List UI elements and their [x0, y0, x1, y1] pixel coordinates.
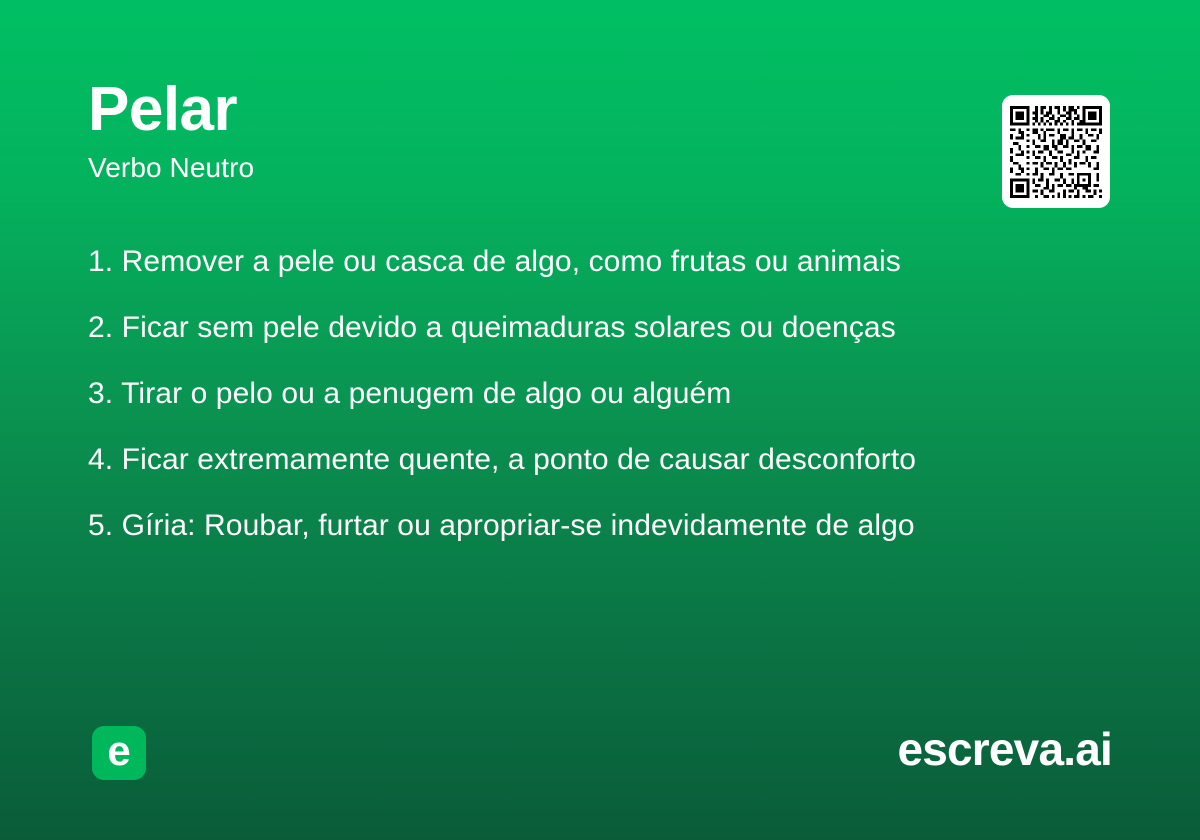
qr-code-icon [1010, 106, 1102, 198]
card-header: Pelar Verbo Neutro [88, 78, 948, 184]
brand-wordmark: escreva.ai [897, 720, 1112, 780]
escreva-logo-icon: e [92, 726, 146, 780]
list-item: 1. Remover a pele ou casca de algo, como… [88, 244, 1128, 310]
list-item: 5. Gíria: Roubar, furtar ou apropriar-se… [88, 508, 1128, 574]
list-item: 3. Tirar o pelo ou a penugem de algo ou … [88, 376, 1128, 442]
definition-card: Pelar Verbo Neutro [0, 0, 1200, 840]
list-item: 4. Ficar extremamente quente, a ponto de… [88, 442, 1128, 508]
list-item: 2. Ficar sem pele devido a queimaduras s… [88, 310, 1128, 376]
part-of-speech-label: Verbo Neutro [88, 153, 948, 184]
page-title: Pelar [88, 78, 948, 141]
card-footer: e escreva.ai [0, 700, 1200, 840]
qr-code-card[interactable] [1002, 95, 1110, 208]
logo-letter: e [107, 730, 130, 772]
definition-list: 1. Remover a pele ou casca de algo, como… [88, 244, 1128, 574]
